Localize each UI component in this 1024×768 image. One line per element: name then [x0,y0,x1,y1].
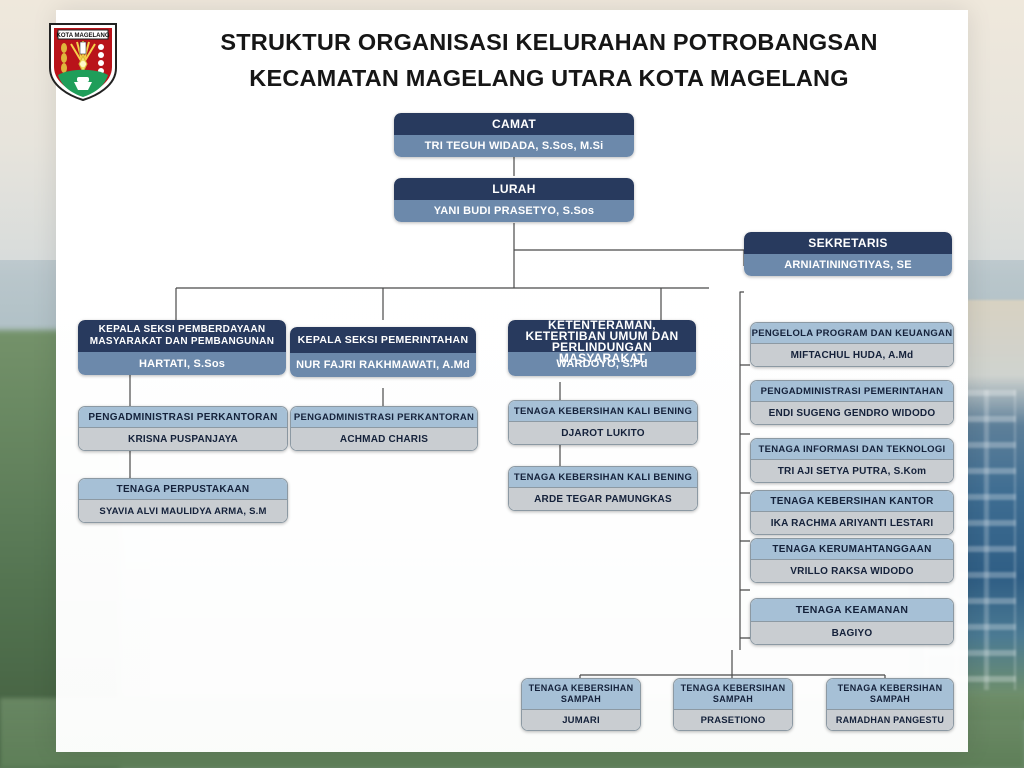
node-tenaga-kerumahtanggaan[interactable]: TENAGA KERUMAHTANGGAAN VRILLO RAKSA WIDO… [750,538,954,583]
node-pengadministrasi-pemerintahan[interactable]: PENGADMINISTRASI PEMERINTAHAN ENDI SUGEN… [750,380,954,425]
node-sek6-position: TENAGA KEAMANAN [751,599,953,622]
node-sek3-name: TRI AJI SETYA PUTRA, S.Kom [751,460,953,482]
node-pmp1-name: KRISNA PUSPANJAYA [79,428,287,450]
node-kebersihan-kali-bening-1[interactable]: TENAGA KEBERSIHAN KALI BENING DJAROT LUK… [508,400,698,445]
node-sek1-name: MIFTACHUL HUDA, A.Md [751,344,953,366]
node-camat-name: TRI TEGUH WIDADA, S.Sos, M.Si [394,135,634,157]
node-pengadministrasi-perkantoran-pmp[interactable]: PENGADMINISTRASI PERKANTORAN KRISNA PUSP… [78,406,288,451]
node-sampah2-name: PRASETIONO [674,710,792,730]
node-tenaga-informasi-teknologi[interactable]: TENAGA INFORMASI DAN TEKNOLOGI TRI AJI S… [750,438,954,483]
node-sampah3-position: TENAGA KEBERSIHAN SAMPAH [827,679,953,710]
node-tenaga-kebersihan-sampah-2[interactable]: TENAGA KEBERSIHAN SAMPAH PRASETIONO [673,678,793,731]
svg-text:KOTA MAGELANG: KOTA MAGELANG [57,33,110,39]
node-sampah2-position: TENAGA KEBERSIHAN SAMPAH [674,679,792,710]
node-kasi-pemberdayaan-position: KEPALA SEKSI PEMBERDAYAAN MASYARAKAT DAN… [78,320,286,352]
node-pmp2-name: SYAVIA ALVI MAULIDYA ARMA, S.M [79,500,287,522]
node-sek4-position: TENAGA KEBERSIHAN KANTOR [751,491,953,512]
node-sek5-name: VRILLO RAKSA WIDODO [751,560,953,582]
node-sekretaris[interactable]: SEKRETARIS ARNIATININGTIYAS, SE [744,232,952,276]
node-kasi-pemberdayaan[interactable]: KEPALA SEKSI PEMBERDAYAAN MASYARAKAT DAN… [78,320,286,375]
node-tenaga-kebersihan-kantor[interactable]: TENAGA KEBERSIHAN KANTOR IKA RACHMA ARIY… [750,490,954,535]
node-pmp1-position: PENGADMINISTRASI PERKANTORAN [79,407,287,428]
node-sek3-position: TENAGA INFORMASI DAN TEKNOLOGI [751,439,953,460]
node-lurah-position: LURAH [394,178,634,200]
node-sampah1-name: JUMARI [522,710,640,730]
node-tenaga-kebersihan-sampah-3[interactable]: TENAGA KEBERSIHAN SAMPAH RAMADHAN PANGES… [826,678,954,731]
node-sekretaris-name: ARNIATININGTIYAS, SE [744,254,952,276]
node-pengadministrasi-perkantoran-pem[interactable]: PENGADMINISTRASI PERKANTORAN ACHMAD CHAR… [290,406,478,451]
poster-header: KOTA MAGELANG [56,10,968,110]
node-pengelola-program-keuangan[interactable]: PENGELOLA PROGRAM DAN KEUANGAN MIFTACHUL… [750,322,954,367]
node-tenaga-keamanan[interactable]: TENAGA KEAMANAN BAGIYO [750,598,954,645]
node-camat-position: CAMAT [394,113,634,135]
title-line-1: STRUKTUR ORGANISASI KELURAHAN POTROBANGS… [144,24,954,60]
node-kasi-pemberdayaan-name: HARTATI, S.Sos [78,352,286,375]
org-chart-poster: KOTA MAGELANG [0,0,1024,768]
poster-title: STRUKTUR ORGANISASI KELURAHAN POTROBANGS… [144,24,954,96]
node-tt1-position: TENAGA KEBERSIHAN KALI BENING [509,401,697,422]
node-tt2-name: ARDE TEGAR PAMUNGKAS [509,488,697,510]
node-kasi-pemerintahan[interactable]: KEPALA SEKSI PEMERINTAHAN NUR FAJRI RAKH… [290,327,476,377]
node-lurah-name: YANI BUDI PRASETYO, S.Sos [394,200,634,222]
kota-magelang-crest-icon: KOTA MAGELANG [44,20,122,102]
node-kasi-ketenteraman-position: KEPALA SEKSI KETENTERAMAN, KETERTIBAN UM… [508,320,696,352]
node-pem1-position: PENGADMINISTRASI PERKANTORAN [291,407,477,428]
node-tenaga-perpustakaan[interactable]: TENAGA PERPUSTAKAAN SYAVIA ALVI MAULIDYA… [78,478,288,523]
node-camat[interactable]: CAMAT TRI TEGUH WIDADA, S.Sos, M.Si [394,113,634,157]
node-sek1-position: PENGELOLA PROGRAM DAN KEUANGAN [751,323,953,344]
node-kasi-pemerintahan-name: NUR FAJRI RAKHMAWATI, A.Md [290,353,476,377]
node-kebersihan-kali-bening-2[interactable]: TENAGA KEBERSIHAN KALI BENING ARDE TEGAR… [508,466,698,511]
node-sek4-name: IKA RACHMA ARIYANTI LESTARI [751,512,953,534]
node-pem1-name: ACHMAD CHARIS [291,428,477,450]
node-sek5-position: TENAGA KERUMAHTANGGAAN [751,539,953,560]
node-sek6-name: BAGIYO [751,622,953,644]
node-lurah[interactable]: LURAH YANI BUDI PRASETYO, S.Sos [394,178,634,222]
node-kasi-pemerintahan-position: KEPALA SEKSI PEMERINTAHAN [290,327,476,353]
node-tenaga-kebersihan-sampah-1[interactable]: TENAGA KEBERSIHAN SAMPAH JUMARI [521,678,641,731]
node-sek2-position: PENGADMINISTRASI PEMERINTAHAN [751,381,953,402]
title-line-2: KECAMATAN MAGELANG UTARA KOTA MAGELANG [144,60,954,96]
node-sekretaris-position: SEKRETARIS [744,232,952,254]
node-sek2-name: ENDI SUGENG GENDRO WIDODO [751,402,953,424]
node-pmp2-position: TENAGA PERPUSTAKAAN [79,479,287,500]
node-kasi-ketenteraman[interactable]: KEPALA SEKSI KETENTERAMAN, KETERTIBAN UM… [508,320,696,376]
content-panel: KOTA MAGELANG [56,10,968,752]
node-tt2-position: TENAGA KEBERSIHAN KALI BENING [509,467,697,488]
node-tt1-name: DJAROT LUKITO [509,422,697,444]
node-sampah1-position: TENAGA KEBERSIHAN SAMPAH [522,679,640,710]
node-sampah3-name: RAMADHAN PANGESTU [827,710,953,730]
